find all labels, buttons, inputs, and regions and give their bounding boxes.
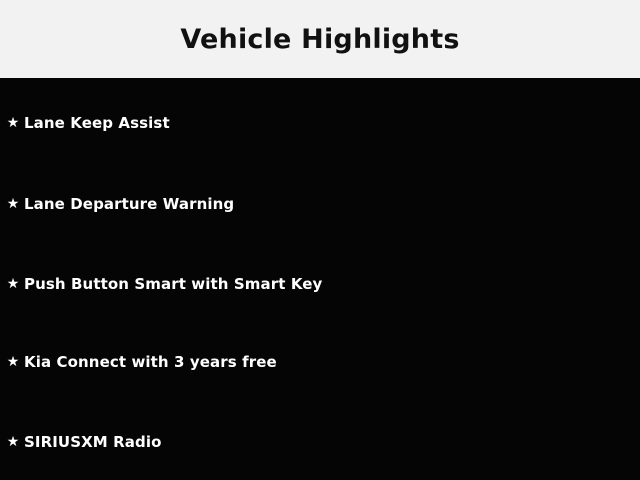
star-icon: ★ <box>2 355 24 369</box>
star-icon: ★ <box>2 277 24 291</box>
highlights-panel: ★ Lane Keep Assist ★ Lane Departure Warn… <box>0 78 640 480</box>
list-item-label: Kia Connect with 3 years free <box>24 353 277 371</box>
list-item: ★ SIRIUSXM Radio <box>0 430 161 454</box>
highlights-list: ★ Lane Keep Assist ★ Lane Departure Warn… <box>0 78 640 480</box>
list-item: ★ Lane Departure Warning <box>0 192 234 216</box>
list-item-label: Push Button Smart with Smart Key <box>24 275 322 293</box>
vehicle-highlights-page: Vehicle Highlights ★ Lane Keep Assist ★ … <box>0 0 640 480</box>
list-item-label: Lane Keep Assist <box>24 114 170 132</box>
page-title: Vehicle Highlights <box>180 24 459 55</box>
list-item-label: Lane Departure Warning <box>24 195 234 213</box>
list-item: ★ Push Button Smart with Smart Key <box>0 272 322 296</box>
star-icon: ★ <box>2 435 24 449</box>
list-item-label: SIRIUSXM Radio <box>24 433 161 451</box>
star-icon: ★ <box>2 197 24 211</box>
list-item: ★ Lane Keep Assist <box>0 111 170 135</box>
page-header: Vehicle Highlights <box>0 0 640 78</box>
list-item: ★ Kia Connect with 3 years free <box>0 350 277 374</box>
star-icon: ★ <box>2 116 24 130</box>
